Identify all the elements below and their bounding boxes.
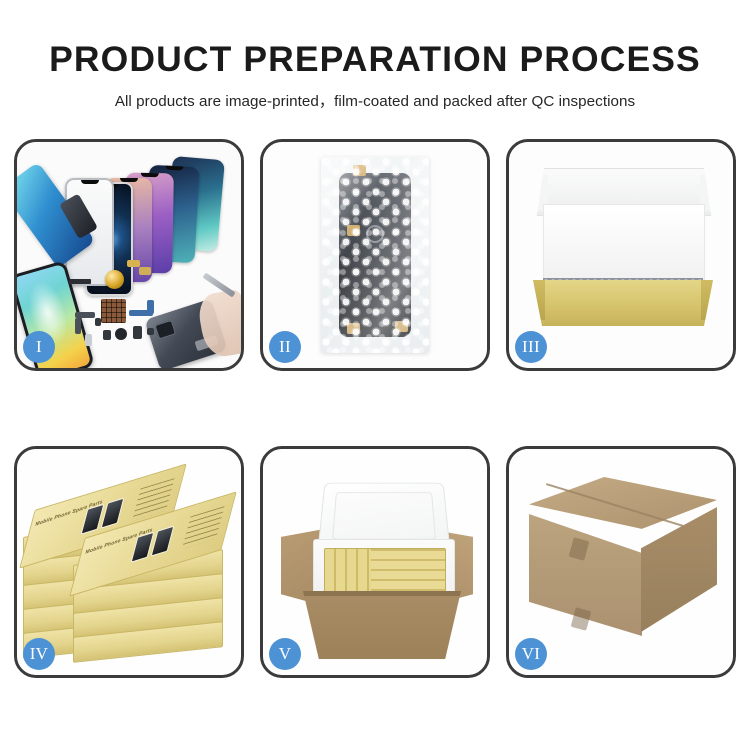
flex-cable-4 xyxy=(147,300,154,314)
open-carton xyxy=(281,471,473,661)
step-badge: IV xyxy=(23,638,55,670)
step-4-image: Mobile Phone Spare Parts Mobile Phone Sp… xyxy=(17,449,241,675)
step-badge: V xyxy=(269,638,301,670)
notch-icon xyxy=(165,166,183,171)
step-badge: III xyxy=(515,331,547,363)
lid-spec-lines xyxy=(182,506,225,549)
step-2-image xyxy=(263,142,487,368)
carton-body xyxy=(303,591,461,659)
step-5-image xyxy=(263,449,487,675)
step-badge: II xyxy=(269,331,301,363)
bar-component xyxy=(69,279,91,284)
notch-icon xyxy=(81,180,99,184)
process-step-3[interactable]: III xyxy=(506,139,736,371)
small-component-3 xyxy=(133,326,142,339)
small-component-2 xyxy=(115,328,127,340)
notch-icon xyxy=(141,173,159,177)
plastic-sheen xyxy=(321,157,429,353)
open-box xyxy=(529,168,717,340)
process-step-2[interactable]: II xyxy=(260,139,490,371)
process-step-1[interactable]: I xyxy=(14,139,244,371)
process-step-5[interactable]: V xyxy=(260,446,490,678)
bubble-wrap-package xyxy=(321,157,429,353)
page-header: PRODUCT PREPARATION PROCESS All products… xyxy=(0,0,750,111)
white-foam-insert xyxy=(543,204,705,282)
phone-thumbnail xyxy=(101,497,125,528)
flex-cable-1 xyxy=(127,260,140,267)
yellow-box-tray xyxy=(533,280,713,326)
page-subtitle: All products are image-printed，film-coat… xyxy=(0,78,750,111)
process-step-grid: I II xyxy=(14,139,736,678)
chip-grid-part xyxy=(101,299,126,323)
phone-thumbnail xyxy=(151,525,175,556)
process-step-4[interactable]: Mobile Phone Spare Parts Mobile Phone Sp… xyxy=(14,446,244,678)
page-title: PRODUCT PREPARATION PROCESS xyxy=(0,0,750,78)
step-3-image xyxy=(509,142,733,368)
step-badge: I xyxy=(23,331,55,363)
flex-cable-2 xyxy=(139,267,151,275)
copper-coil-part xyxy=(105,270,124,289)
process-step-6[interactable]: VI xyxy=(506,446,736,678)
small-component-4 xyxy=(85,334,92,346)
carton-tab xyxy=(571,607,592,630)
small-component-6 xyxy=(147,328,154,335)
small-component-5 xyxy=(95,318,101,326)
step-badge: VI xyxy=(515,638,547,670)
small-component-1 xyxy=(103,330,111,340)
box-stack: Mobile Phone Spare Parts Mobile Phone Sp… xyxy=(21,471,239,657)
flex-cable-6 xyxy=(75,318,81,334)
step-6-image xyxy=(509,449,733,675)
sealed-carton xyxy=(529,477,717,653)
step-1-image xyxy=(17,142,241,368)
